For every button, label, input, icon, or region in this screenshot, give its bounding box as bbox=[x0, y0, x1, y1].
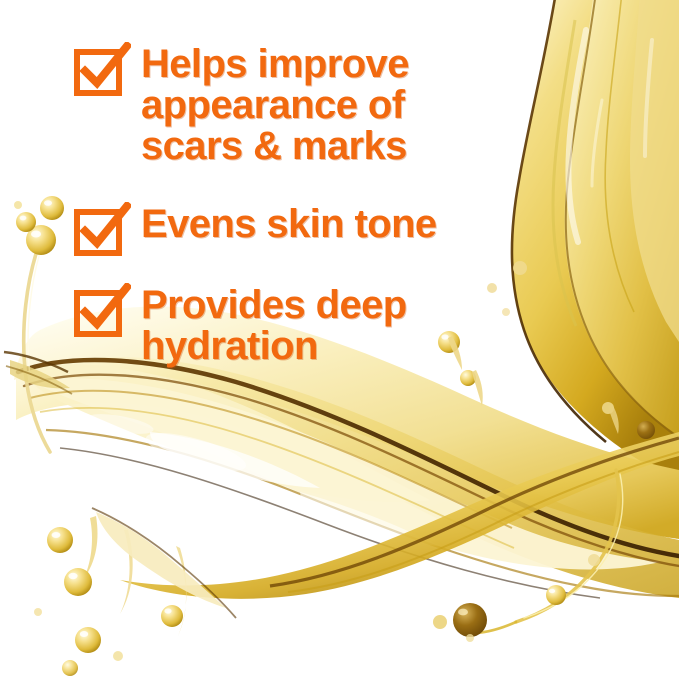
checkbox-checked-icon bbox=[74, 209, 121, 256]
oil-droplet-highlight bbox=[20, 216, 27, 221]
infographic-canvas: Helps improve appearance of scars & mark… bbox=[0, 0, 679, 679]
oil-droplet bbox=[16, 212, 36, 232]
oil-droplet-small bbox=[62, 660, 78, 676]
benefit-item-hydration: Provides deep hydration bbox=[74, 285, 407, 367]
oil-droplet-small bbox=[502, 308, 510, 316]
oil-droplet-highlight bbox=[458, 609, 468, 616]
checkbox-checked-icon bbox=[74, 290, 121, 337]
oil-droplet-small bbox=[588, 554, 600, 566]
oil-droplet bbox=[47, 527, 73, 553]
oil-droplet-highlight bbox=[68, 573, 77, 579]
benefit-label: Helps improve appearance of scars & mark… bbox=[141, 44, 409, 167]
oil-droplet bbox=[40, 196, 64, 220]
oil-droplet-highlight bbox=[80, 631, 88, 637]
oil-droplet-small bbox=[433, 615, 447, 629]
benefit-item-scars-marks: Helps improve appearance of scars & mark… bbox=[74, 44, 409, 167]
oil-droplet-small bbox=[34, 608, 42, 616]
oil-droplet-amber bbox=[453, 603, 487, 637]
benefit-label: Provides deep hydration bbox=[141, 285, 407, 367]
oil-droplet-highlight bbox=[31, 231, 41, 238]
oil-droplet-small bbox=[466, 634, 474, 642]
oil-droplet-highlight bbox=[52, 532, 61, 538]
oil-droplet-amber bbox=[637, 421, 655, 439]
checkbox-checked-icon bbox=[74, 49, 121, 96]
oil-drip-finger-1 bbox=[84, 516, 98, 578]
oil-droplet bbox=[75, 627, 101, 653]
oil-droplet-highlight bbox=[441, 334, 448, 339]
oil-droplet-small bbox=[113, 651, 123, 661]
oil-droplet-highlight bbox=[549, 589, 555, 593]
oil-droplet-small bbox=[513, 261, 527, 275]
benefit-label: Evens skin tone bbox=[141, 204, 437, 245]
oil-droplet bbox=[161, 605, 183, 627]
oil-droplet-highlight bbox=[44, 200, 52, 206]
oil-droplet-small bbox=[14, 201, 22, 209]
oil-droplet-highlight bbox=[164, 608, 171, 613]
oil-droplet-small bbox=[487, 283, 497, 293]
oil-drip-web bbox=[96, 512, 226, 608]
benefit-item-even-tone: Evens skin tone bbox=[74, 204, 437, 256]
oil-droplet bbox=[64, 568, 92, 596]
oil-droplet bbox=[546, 585, 566, 605]
